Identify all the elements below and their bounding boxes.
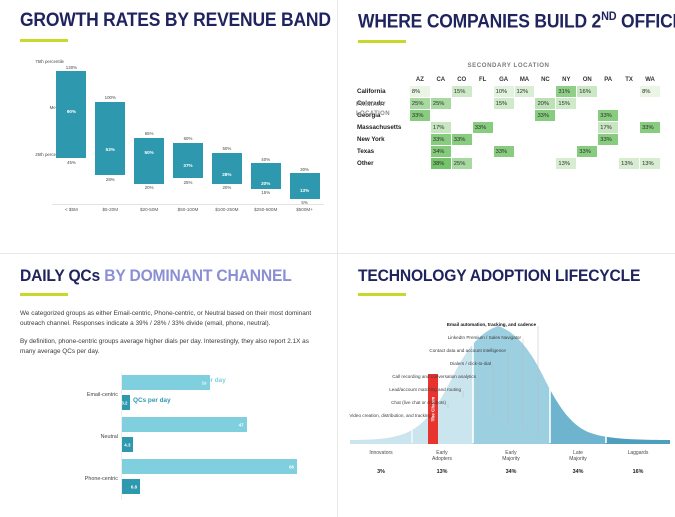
heatmap-cell-empty xyxy=(619,110,639,121)
curve-annotation-label: Email automation, tracking, and cadence xyxy=(447,322,536,327)
bar-value-label: 66 xyxy=(289,464,294,469)
heatmap-cell: 13% xyxy=(640,158,660,169)
x-tick-label: < $5M xyxy=(65,207,78,212)
heatmap-cell-empty xyxy=(515,146,535,157)
heatmap-column-header: AZ xyxy=(410,77,430,85)
panel-second-offices: WHERE COMPANIES BUILD 2ND OFFICES SECOND… xyxy=(338,0,675,254)
heatmap-corner xyxy=(357,77,409,85)
heatmap-cell-empty xyxy=(535,158,555,169)
title-text-accent: BY DOMINANT CHANNEL xyxy=(104,266,291,285)
curve-annotation-label: Video creation, distribution, and tracki… xyxy=(349,413,431,418)
heatmap-cell: 8% xyxy=(640,86,660,97)
segment-name-label: LateMajority xyxy=(569,450,587,463)
segment-percentage-label: 3% xyxy=(377,469,385,475)
heatmap-cell-empty xyxy=(619,122,639,133)
heatmap-cell: 20% xyxy=(535,98,555,109)
curve-annotation-label: Call recording and conversation analytic… xyxy=(392,374,476,379)
segment-name-label: EarlyMajority xyxy=(502,450,520,463)
panel1-header: GROWTH RATES BY REVENUE BAND xyxy=(20,10,338,42)
table-row: Massachusetts17%33%17%33% xyxy=(357,122,660,133)
title-ordinal-suffix: ND xyxy=(601,10,616,23)
adoption-curve: The Chasm Email automation, tracking, an… xyxy=(350,312,670,507)
bar-bottom-label: 25% xyxy=(184,180,193,185)
heatmap-cell-empty xyxy=(535,134,555,145)
heatmap-cell-empty xyxy=(556,146,576,157)
segment-name-label: EarlyAdopters xyxy=(432,450,452,463)
heatmap-column-header: CA xyxy=(431,77,451,85)
daily-qcs-chart: Email-centric333.2Neutral474.3Phone-cent… xyxy=(0,372,338,512)
bar-median-label: 53% xyxy=(106,147,115,152)
bar-category-label: Neutral xyxy=(0,434,118,440)
heatmap-cell: 25% xyxy=(431,98,451,109)
bar-top-label: 40% xyxy=(261,157,270,162)
heatmap-cell-empty xyxy=(452,110,472,121)
heatmap-cell: 38% xyxy=(431,158,451,169)
heatmap-cell: 17% xyxy=(598,122,618,133)
heatmap-cell: 33% xyxy=(494,146,514,157)
heatmap-cell-empty xyxy=(494,110,514,121)
heatmap-column-header: PA xyxy=(598,77,618,85)
heatmap-cell-empty xyxy=(577,98,597,109)
panel4-header: TECHNOLOGY ADOPTION LIFECYCLE xyxy=(358,266,665,296)
heatmap-cell-empty xyxy=(452,122,472,133)
heatmap-cell-empty xyxy=(473,146,493,157)
heatmap-cell-empty xyxy=(598,146,618,157)
chart3-row: Email-centric333.2 xyxy=(0,374,338,416)
bar-value-label: 4.3 xyxy=(124,442,130,447)
slide-deck: GROWTH RATES BY REVENUE BAND 75th percen… xyxy=(0,0,675,517)
heatmap-cell-empty xyxy=(535,122,555,133)
heatmap-cell-empty xyxy=(515,110,535,121)
bar-bottom-label: 20% xyxy=(222,185,231,190)
bar-qcs-per-day: 6.8 xyxy=(122,479,140,494)
heatmap-cell-empty xyxy=(515,122,535,133)
heatmap-cell-empty xyxy=(494,122,514,133)
heatmap-cell-empty xyxy=(535,86,555,97)
bar-median-label: 50% xyxy=(145,150,154,155)
heatmap-cell: 12% xyxy=(515,86,535,97)
bar-qcs-per-day: 4.3 xyxy=(122,437,133,452)
heatmap-cell-empty xyxy=(577,110,597,121)
heatmap-cell: 13% xyxy=(556,158,576,169)
heatmap-cell-empty xyxy=(515,98,535,109)
title-text-tail: OFFICES xyxy=(616,11,675,32)
chart3-row: Phone-centric666.8 xyxy=(0,458,338,500)
growth-rate-x-ticks: < $5M$5-20M$20-50M$50-100M$100-250M$250-… xyxy=(52,207,324,219)
primary-location-line1: PRIMARY xyxy=(356,101,386,108)
heatmap-cell-empty xyxy=(473,86,493,97)
heatmap-cell: 33% xyxy=(598,134,618,145)
heatmap-cell-empty xyxy=(577,134,597,145)
heatmap-cell: 17% xyxy=(431,122,451,133)
growth-rate-axis-line xyxy=(52,204,324,205)
heatmap-cell-empty xyxy=(640,134,660,145)
curve-annotation-label: Contact data and account intelligence xyxy=(429,348,506,353)
page-title: GROWTH RATES BY REVENUE BAND xyxy=(20,10,331,32)
heatmap-cell: 33% xyxy=(452,134,472,145)
range-bar: 30%5%13% xyxy=(290,173,320,199)
chart3-rows: Email-centric333.2Neutral474.3Phone-cent… xyxy=(0,374,338,500)
title-accent-bar xyxy=(358,293,406,296)
bar-value-label: 3.2 xyxy=(121,400,127,405)
heatmap-cell-empty xyxy=(598,158,618,169)
heatmap-cell: 15% xyxy=(452,86,472,97)
panel3-body-text: We categorized groups as either Email-ce… xyxy=(20,309,320,357)
bar-median-label: 90% xyxy=(67,109,76,114)
segment-percentage-label: 13% xyxy=(437,469,448,475)
panel2-header: WHERE COMPANIES BUILD 2ND OFFICES xyxy=(358,10,675,43)
bar-bottom-label: 15% xyxy=(261,190,270,195)
heatmap-cell-empty xyxy=(431,86,451,97)
bar-bottom-label: 45% xyxy=(67,160,76,165)
primary-location-label: PRIMARY LOCATION xyxy=(356,100,390,118)
segment-percentage-label: 16% xyxy=(633,469,644,475)
x-tick-label: $500M+ xyxy=(296,207,313,212)
heatmap-cell-empty xyxy=(577,158,597,169)
bar-median-label: 13% xyxy=(300,188,309,193)
title-text-main: WHERE COMPANIES BUILD 2 xyxy=(358,11,601,32)
bar-top-label: 50% xyxy=(222,146,231,151)
heatmap-cell: 33% xyxy=(577,146,597,157)
x-tick-label: $20-50M xyxy=(140,207,158,212)
heatmap-cell-empty xyxy=(494,134,514,145)
bar-median-label: 28% xyxy=(222,172,231,177)
bar-category-label: Email-centric xyxy=(0,392,118,398)
bar-qcs-per-day: 3.2 xyxy=(122,395,130,410)
bar-value-label: 6.8 xyxy=(131,484,137,489)
heatmap-column-header: TX xyxy=(619,77,639,85)
table-row: California8%15%10%12%31%16%8% xyxy=(357,86,660,97)
segment-percentage-label: 34% xyxy=(506,469,517,475)
range-bar: 65%20%50% xyxy=(134,138,164,184)
heatmap-column-header: MA xyxy=(515,77,535,85)
heatmap-cell-empty xyxy=(410,146,430,157)
heatmap-cell: 13% xyxy=(619,158,639,169)
panel-adoption-lifecycle: TECHNOLOGY ADOPTION LIFECYCLE xyxy=(338,254,675,517)
heatmap-cell: 15% xyxy=(494,98,514,109)
bar-median-label: 37% xyxy=(183,163,192,168)
heatmap-cell-empty xyxy=(473,110,493,121)
heatmap-column-header: CO xyxy=(452,77,472,85)
bar-bottom-label: 28% xyxy=(106,177,115,182)
heatmap-table: AZCACOFLGAMANCNYONPATXWACalifornia8%15%1… xyxy=(356,76,661,170)
heatmap-cell: 10% xyxy=(494,86,514,97)
heatmap-cell-empty xyxy=(410,122,430,133)
growth-rate-chart: 75th percentile Median 25th percentile 1… xyxy=(0,55,338,230)
heatmap-column-header: GA xyxy=(494,77,514,85)
heatmap-cell-empty xyxy=(410,134,430,145)
heatmap-cell-empty xyxy=(619,86,639,97)
bar-top-label: 30% xyxy=(300,167,309,172)
curve-annotation-label: LinkedIn Premium / Sales Navigator xyxy=(448,335,521,340)
curve-annotation-label: Dialers / click-to-dial xyxy=(450,361,491,366)
paragraph-1: We categorized groups as either Email-ce… xyxy=(20,309,320,329)
heatmap-cell: 33% xyxy=(640,122,660,133)
bar-top-label: 60% xyxy=(184,136,193,141)
heatmap-cell: 8% xyxy=(410,86,430,97)
heatmap-cell: 33% xyxy=(410,110,430,121)
heatmap-cell: 15% xyxy=(556,98,576,109)
table-row: Texas34%33%33% xyxy=(357,146,660,157)
heatmap-column-header: ON xyxy=(577,77,597,85)
bar-bottom-label: 20% xyxy=(145,185,154,190)
heatmap-column-header: NY xyxy=(556,77,576,85)
primary-location-line2: LOCATION xyxy=(356,110,390,117)
heatmap-cell-empty xyxy=(640,146,660,157)
curve-annotation-label: Lead/account matching and routing xyxy=(389,387,461,392)
heatmap-cell-empty xyxy=(452,146,472,157)
offices-heatmap: SECONDARY LOCATION PRIMARY LOCATION AZCA… xyxy=(356,62,661,170)
x-tick-label: $50-100M xyxy=(178,207,199,212)
heatmap-cell: 33% xyxy=(598,110,618,121)
heatmap-column-header: WA xyxy=(640,77,660,85)
growth-rate-plot-area: 130%45%90%100%28%53%65%20%50%60%25%37%50… xyxy=(52,61,324,204)
bar-dials-per-day: 66 xyxy=(122,459,297,474)
range-bar: 50%20%28% xyxy=(212,153,242,184)
secondary-location-label: SECONDARY LOCATION xyxy=(365,62,652,69)
page-title: WHERE COMPANIES BUILD 2ND OFFICES xyxy=(358,10,675,33)
bar-category-label: Phone-centric xyxy=(0,476,118,482)
segment-name-label: Laggards xyxy=(628,450,649,456)
heatmap-cell-empty xyxy=(640,98,660,109)
title-text-main: DAILY QCs xyxy=(20,266,104,285)
bar-dials-per-day: 47 xyxy=(122,417,247,432)
heatmap-cell-empty xyxy=(556,134,576,145)
heatmap-column-header: NC xyxy=(535,77,555,85)
table-row: Georgia33%33%33% xyxy=(357,110,660,121)
heatmap-cell: 33% xyxy=(535,110,555,121)
x-tick-label: $5-20M xyxy=(102,207,118,212)
page-title: TECHNOLOGY ADOPTION LIFECYCLE xyxy=(358,266,640,286)
title-accent-bar xyxy=(20,39,68,42)
table-row: Colorado25%25%15%20%15% xyxy=(357,98,660,109)
legend-qcs-per-day: QCs per day xyxy=(133,397,171,404)
table-row: Other38%25%13%13%13% xyxy=(357,158,660,169)
heatmap-cell-empty xyxy=(473,158,493,169)
page-title: DAILY QCs BY DOMINANT CHANNEL xyxy=(20,266,292,286)
heatmap-cell: 25% xyxy=(410,98,430,109)
heatmap-cell-empty xyxy=(598,86,618,97)
bar-median-label: 20% xyxy=(261,181,270,186)
heatmap-cell-empty xyxy=(619,146,639,157)
range-bar: 40%15%20% xyxy=(251,163,281,189)
chart3-row: Neutral474.3 xyxy=(0,416,338,458)
heatmap-header-row: AZCACOFLGAMANCNYONPATXWA xyxy=(357,77,660,85)
heatmap-cell: 25% xyxy=(452,158,472,169)
range-bar: 60%25%37% xyxy=(173,143,203,179)
range-bar: 100%28%53% xyxy=(95,102,125,176)
bar-value-label: 47 xyxy=(239,422,244,427)
title-accent-bar xyxy=(358,40,406,43)
heatmap-cell-empty xyxy=(452,98,472,109)
heatmap-cell-empty xyxy=(410,158,430,169)
heatmap-cell-empty xyxy=(619,98,639,109)
range-bar: 130%45%90% xyxy=(56,71,86,158)
heatmap-cell: 33% xyxy=(473,122,493,133)
curve-annotation-label: Chat (live chat or chatbots) xyxy=(391,400,446,405)
heatmap-row-label: New York xyxy=(357,134,409,145)
heatmap-cell-empty xyxy=(515,158,535,169)
heatmap-cell-empty xyxy=(431,110,451,121)
bar-top-label: 65% xyxy=(145,131,154,136)
heatmap-cell-empty xyxy=(640,110,660,121)
heatmap-row-label: Massachusetts xyxy=(357,122,409,133)
heatmap-cell-empty xyxy=(556,110,576,121)
heatmap-cell-empty xyxy=(619,134,639,145)
heatmap-cell-empty xyxy=(556,122,576,133)
heatmap-cell: 34% xyxy=(431,146,451,157)
segment-name-label: Innovators xyxy=(369,450,392,456)
heatmap-row-label: Other xyxy=(357,158,409,169)
table-row: New York33%33%33% xyxy=(357,134,660,145)
heatmap-cell-empty xyxy=(473,98,493,109)
heatmap-cell-empty xyxy=(535,146,555,157)
x-tick-label: $100-250M xyxy=(215,207,238,212)
legend-dials-per-day: Dials per day xyxy=(186,377,226,384)
x-tick-label: $250-500M xyxy=(254,207,277,212)
heatmap-cell-empty xyxy=(494,158,514,169)
panel3-header: DAILY QCs BY DOMINANT CHANNEL xyxy=(20,266,315,296)
bar-top-label: 100% xyxy=(105,95,116,100)
heatmap-row-label: California xyxy=(357,86,409,97)
heatmap-cell-empty xyxy=(598,98,618,109)
panel-growth-rates: GROWTH RATES BY REVENUE BAND 75th percen… xyxy=(0,0,338,254)
segment-percentage-label: 34% xyxy=(573,469,584,475)
title-accent-bar xyxy=(20,293,68,296)
heatmap-cell: 16% xyxy=(577,86,597,97)
bar-top-label: 130% xyxy=(66,65,77,70)
heatmap-cell-empty xyxy=(515,134,535,145)
heatmap-row-label: Texas xyxy=(357,146,409,157)
heatmap-column-header: FL xyxy=(473,77,493,85)
curve-segment-early-majority xyxy=(350,326,670,444)
heatmap-cell: 31% xyxy=(556,86,576,97)
heatmap-cell-empty xyxy=(577,122,597,133)
panel-daily-qcs: DAILY QCs BY DOMINANT CHANNEL We categor… xyxy=(0,254,338,517)
paragraph-2: By definition, phone-centric groups aver… xyxy=(20,337,320,357)
heatmap-cell-empty xyxy=(473,134,493,145)
heatmap-cell: 33% xyxy=(431,134,451,145)
